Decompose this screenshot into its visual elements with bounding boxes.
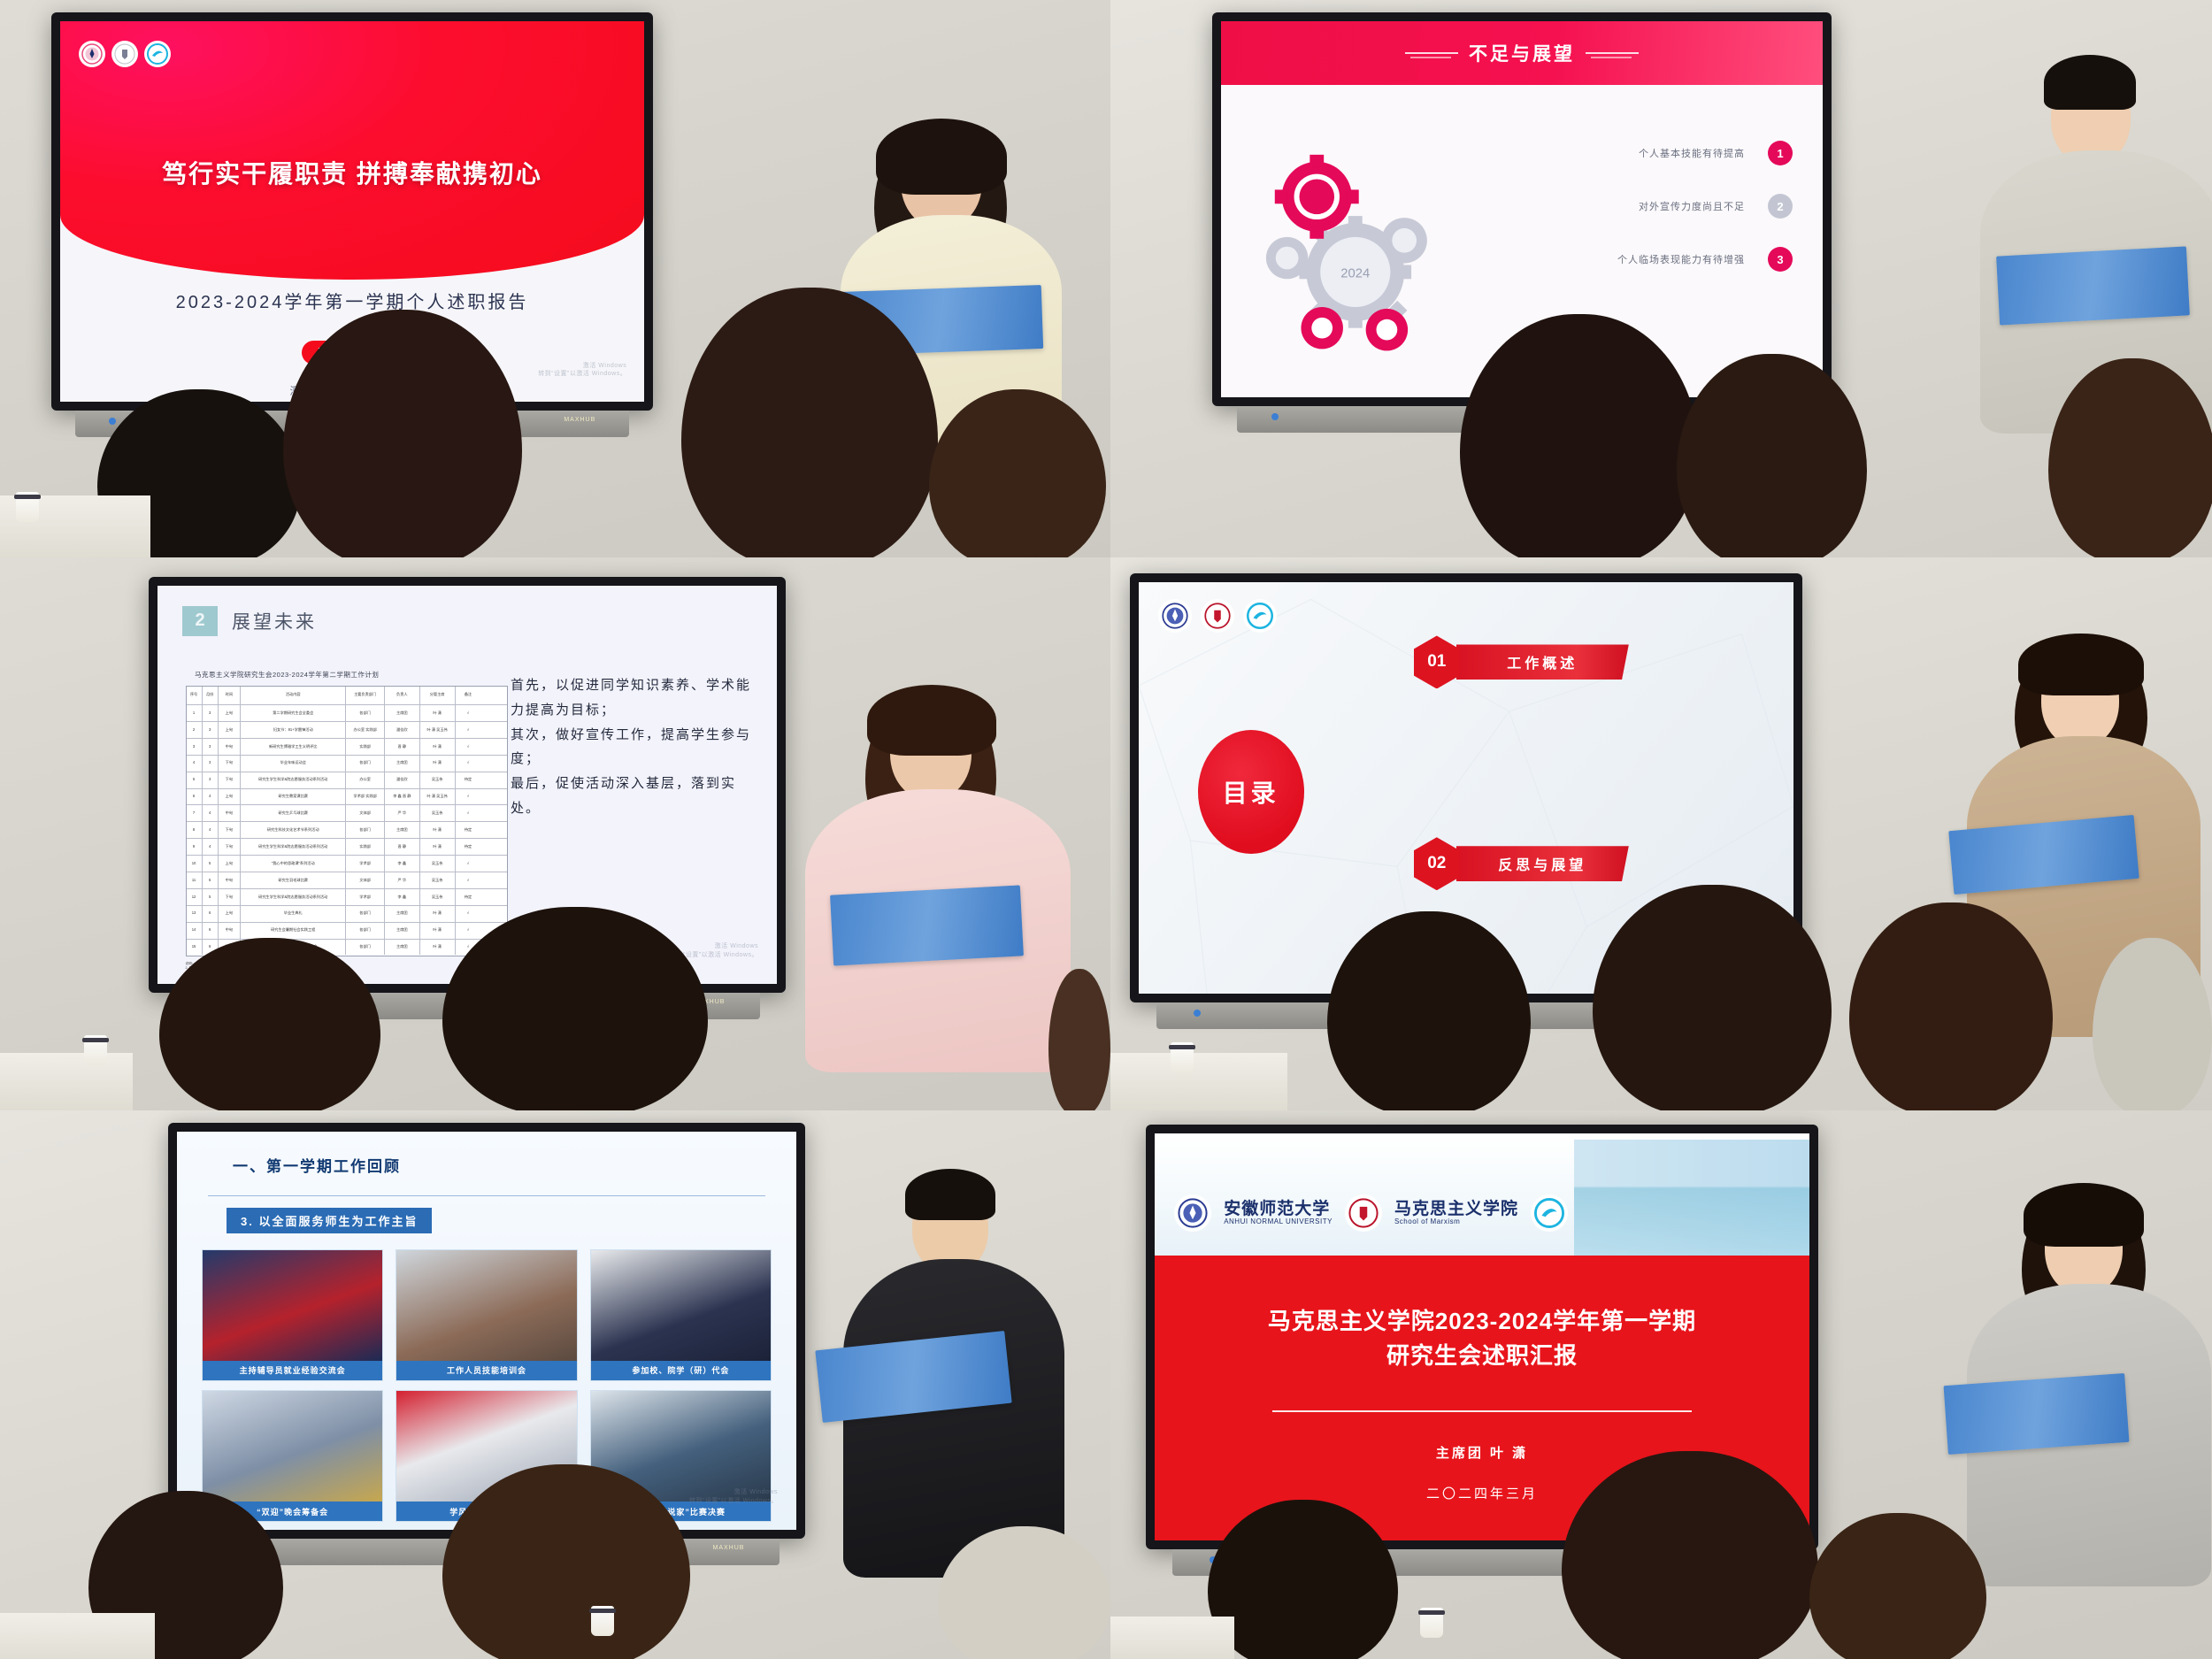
table-row: 33中旬新研究生博雅学工生义明评比实践部晋 静叶 潇√ xyxy=(187,739,507,756)
table-cell: 毕业年味运动会 xyxy=(241,756,346,772)
school-name-en: School of Marxism xyxy=(1394,1218,1518,1225)
section-number-chip: 2 xyxy=(182,606,218,636)
table-cell: √ xyxy=(456,705,481,721)
table-cell: 主席团 xyxy=(385,822,420,838)
table-cell: 下旬 xyxy=(219,839,241,855)
table-cell: 待定 xyxy=(456,889,481,905)
table-cell: 3 xyxy=(203,722,219,738)
item-number-badge: 3 xyxy=(1768,247,1793,272)
slide-subheading: 3. 以全面服务师生为工作主旨 xyxy=(227,1208,432,1233)
table-cell: 晋 静 xyxy=(385,839,420,855)
table-cell: 办公室 实践部 xyxy=(346,722,384,738)
cover-title-line1: 马克思主义学院2023-2024学年第一学期 xyxy=(1268,1308,1696,1334)
campus-building-illustration xyxy=(1574,1140,1809,1256)
table-cell: 4 xyxy=(203,822,219,838)
table-cell: 实践部 xyxy=(346,839,384,855)
audience-person xyxy=(283,310,522,557)
table-cell: 主席团 xyxy=(385,756,420,772)
gear-graphic: 2024 xyxy=(1257,127,1450,360)
table-cell: 严 华 xyxy=(385,805,420,821)
audience-person xyxy=(929,389,1106,557)
audience-person xyxy=(1327,911,1531,1110)
slide-heading: 不足与展望 xyxy=(1469,40,1575,66)
table-cell: 4 xyxy=(187,756,203,772)
table-cell: 3 xyxy=(203,705,219,721)
table-cell: 主席团 xyxy=(385,923,420,939)
table-cell: 文体部 xyxy=(346,872,384,888)
slide-logos xyxy=(79,41,171,67)
toc-number-02: 02 xyxy=(1414,837,1460,890)
table-cell: √ xyxy=(456,722,481,738)
table-header-cell: 活动内容 xyxy=(241,687,346,705)
item-text: 个人临场表现能力有待增强 xyxy=(1617,252,1745,266)
list-item: 个人基本技能有待提高 1 xyxy=(1479,127,1793,180)
table-cell: 毕业生典礼 xyxy=(241,906,346,922)
blue-folder xyxy=(1944,1373,2130,1455)
table-cell: 叶 潇 xyxy=(420,839,456,855)
table-cell: 各部门 xyxy=(346,923,384,939)
table-cell: 实践部 xyxy=(346,739,384,755)
table-cell: 2 xyxy=(187,722,203,738)
table-cell: 6 xyxy=(203,923,219,939)
toc-number-01: 01 xyxy=(1414,635,1460,688)
table-cell: 吴玉伟 xyxy=(420,872,456,888)
table-cell: 研究生学生科学&院志愿服务活动系列活动 xyxy=(241,839,346,855)
table-cell: 10 xyxy=(187,856,203,872)
table-header-cell: 月份 xyxy=(203,687,219,705)
table-cell: √ xyxy=(456,805,481,821)
paper-cup xyxy=(84,1035,107,1065)
slide-heading: 一、第一学期工作回顾 xyxy=(233,1154,401,1176)
paper-cup xyxy=(1420,1608,1443,1638)
graduate-union-emblem-icon xyxy=(1243,599,1277,633)
anhui-normal-university-emblem-icon xyxy=(1158,599,1192,633)
table-cell: 中旬 xyxy=(219,805,241,821)
paper-cup xyxy=(591,1606,614,1636)
audience-person xyxy=(1562,1451,1818,1659)
table-row: 13上旬第二学期研究生会全委会各部门主席团叶 潇√ xyxy=(187,705,507,722)
graduate-union-emblem-icon xyxy=(1531,1194,1568,1232)
table-cell: 李 鑫 xyxy=(385,889,420,905)
table-row: 125下旬研究生学生科学&院志愿服务活动系列活动学术部李 鑫吴玉伟待定 xyxy=(187,889,507,906)
item-text: 对外宣传力度尚且不足 xyxy=(1639,199,1745,213)
table-cell: 研究生学生科学&院志愿服务活动系列活动 xyxy=(241,772,346,788)
audience-person xyxy=(681,288,938,557)
photo-card: 工作人员技能培训会 xyxy=(396,1249,577,1381)
table-cell: “我心中的思政课”系列活动 xyxy=(241,856,346,872)
table-cell: √ xyxy=(456,856,481,872)
table-cell: 9 xyxy=(187,839,203,855)
table-cell: 上旬 xyxy=(219,722,241,738)
table-cell: 学术部 xyxy=(346,856,384,872)
table-cell: 待定 xyxy=(456,839,481,855)
windows-watermark: 激活 Windows转到“设置”以激活 Windows。 xyxy=(689,1488,778,1506)
table-cell: 主席团 xyxy=(385,940,420,956)
table-cell: 妇女节：81+学雷锋活动 xyxy=(241,722,346,738)
audience-person xyxy=(1809,1513,1986,1659)
left-dash-decoration xyxy=(1405,52,1458,54)
school-of-marxism-emblem-icon xyxy=(1201,599,1234,633)
table-cell: 叶 潇 xyxy=(420,705,456,721)
table-row: 23上旬妇女节：81+学雷锋活动办公室 实践部潘佳欣叶 潇 吴玉伟√ xyxy=(187,722,507,739)
table-cell: 严 华 xyxy=(385,872,420,888)
table-cell: 待定 xyxy=(456,772,481,788)
table-cell: 4 xyxy=(203,789,219,805)
table-cell: 6 xyxy=(187,789,203,805)
cover-divider xyxy=(1272,1410,1692,1412)
presenter-person xyxy=(796,681,1079,1071)
list-item: 个人临场表现能力有待增强 3 xyxy=(1479,233,1793,286)
panel-middle-left: 2 展望未来 马克思主义学院研究生会2023-2024学年第二学期工作计划 序号… xyxy=(0,557,1110,1110)
table-cell: 吴玉伟 xyxy=(420,856,456,872)
audience-person xyxy=(1048,969,1110,1110)
table-row: 53下旬研究生学生科学&院志愿服务活动系列活动办公室潘佳欣吴玉伟待定 xyxy=(187,772,507,789)
outlook-item-list: 个人基本技能有待提高 1 对外宣传力度尚且不足 2 个人临场表现能力有待增强 3 xyxy=(1479,127,1793,286)
school-name: 马克思主义学院 School of Marxism xyxy=(1394,1201,1518,1225)
table-cell: 5 xyxy=(203,889,219,905)
table-cell: 3 xyxy=(203,772,219,788)
photo-card: 主持辅导员就业经验交流会 xyxy=(202,1249,383,1381)
audience-person xyxy=(2048,358,2212,557)
slide-heading-group: 2 展望未来 xyxy=(182,606,317,636)
table-cell: 吴玉伟 xyxy=(420,805,456,821)
table-cell: 学术部 实践部 xyxy=(346,789,384,805)
university-name-en: ANHUI NORMAL UNIVERSITY xyxy=(1224,1218,1333,1225)
table-cell: 吴玉伟 xyxy=(420,889,456,905)
panel-top-left: 笃行实干履职责 拼搏奉献携初心 2023-2024学年第一学期个人述职报告 汇报… xyxy=(0,0,1110,557)
front-desk xyxy=(0,1613,155,1659)
table-cell: 研究生学生科学&院志愿服务活动系列活动 xyxy=(241,889,346,905)
table-cell: 下旬 xyxy=(219,772,241,788)
table-cell: 研究生科技文化艺术节系列活动 xyxy=(241,822,346,838)
table-cell: 叶 潇 xyxy=(420,822,456,838)
table-cell: √ xyxy=(456,739,481,755)
anhui-normal-university-emblem-icon xyxy=(79,41,105,67)
table-cell: 晋 静 xyxy=(385,739,420,755)
cover-title-line2: 研究生会述职汇报 xyxy=(1386,1342,1578,1369)
paper-cup xyxy=(16,492,39,522)
table-row: 84下旬研究生科技文化艺术节系列活动各部门主席团叶 潇待定 xyxy=(187,822,507,839)
photo-caption: 工作人员技能培训会 xyxy=(396,1361,576,1380)
blue-folder xyxy=(830,885,1024,965)
graduate-union-emblem-icon xyxy=(144,41,171,67)
table-cell: √ xyxy=(456,756,481,772)
gear-year-label: 2024 xyxy=(1340,266,1370,280)
table-cell: 6 xyxy=(203,906,219,922)
cover-logos: 安徽师范大学 ANHUI NORMAL UNIVERSITY 马克思主义学院 S… xyxy=(1174,1194,1568,1232)
table-cell: 3 xyxy=(203,756,219,772)
heading-rule xyxy=(208,1195,765,1196)
table-header-cell: 备注 xyxy=(456,687,481,705)
table-cell: 上旬 xyxy=(219,906,241,922)
toc-item-01[interactable]: 01 工作概述 xyxy=(1414,635,1629,688)
table-header-cell: 时间 xyxy=(219,687,241,705)
table-cell: 下旬 xyxy=(219,756,241,772)
table-cell: 3 xyxy=(203,739,219,755)
table-cell: 5 xyxy=(203,872,219,888)
table-cell: 7 xyxy=(187,805,203,821)
table-cell: 中旬 xyxy=(219,923,241,939)
item-number-badge: 1 xyxy=(1768,141,1793,165)
audience-person xyxy=(1593,885,1832,1110)
audience-person xyxy=(442,907,708,1110)
slide-logos xyxy=(1158,599,1277,633)
table-header-cell: 分管主席 xyxy=(420,687,456,705)
toc-label-02: 反思与展望 xyxy=(1456,846,1629,881)
photo-collage: 笃行实干履职责 拼搏奉献携初心 2023-2024学年第一学期个人述职报告 汇报… xyxy=(0,0,2212,1659)
panel-bottom-right: 安徽师范大学 ANHUI NORMAL UNIVERSITY 马克思主义学院 S… xyxy=(1110,1110,2212,1659)
table-cell: 下旬 xyxy=(219,822,241,838)
university-name-cn: 安徽师范大学 xyxy=(1224,1201,1333,1218)
right-dash-decoration xyxy=(1586,52,1639,54)
table-cell: 中旬 xyxy=(219,739,241,755)
table-cell: 研究生会暑期社会实践工程 xyxy=(241,923,346,939)
table-cell: 11 xyxy=(187,872,203,888)
table-cell: 李 鑫 xyxy=(385,856,420,872)
audience-person xyxy=(938,1526,1110,1659)
table-cell: 待定 xyxy=(456,822,481,838)
panel-middle-right: 目录 01 工作概述 02 反思与展望 激活 Windows转到“设置”以激活 … xyxy=(1110,557,2212,1110)
table-cell: 4 xyxy=(203,805,219,821)
university-name: 安徽师范大学 ANHUI NORMAL UNIVERSITY xyxy=(1224,1201,1333,1225)
photo-caption: 主持辅导员就业经验交流会 xyxy=(203,1361,382,1380)
toc-item-02[interactable]: 02 反思与展望 xyxy=(1414,837,1629,890)
paper-cup xyxy=(1171,1042,1194,1072)
anhui-normal-university-emblem-icon xyxy=(1174,1194,1211,1232)
toc-label-01: 工作概述 xyxy=(1456,644,1629,680)
table-row: 64上旬研究生教案课比赛学术部 实践部李 鑫 晋 静叶 潇 吴玉伟√ xyxy=(187,789,507,806)
table-cell: 上旬 xyxy=(219,856,241,872)
list-item: 对外宣传力度尚且不足 2 xyxy=(1479,180,1793,233)
photo-card: 参加校、院学（研）代会 xyxy=(590,1249,772,1381)
table-cell: 中旬 xyxy=(219,872,241,888)
front-desk xyxy=(0,1053,133,1110)
table-cell: 13 xyxy=(187,906,203,922)
slide-heading: 展望未来 xyxy=(232,608,317,634)
audience-person xyxy=(442,1464,690,1659)
table-cell: 叶 潇 吴玉伟 xyxy=(420,722,456,738)
table-row: 74中旬研究生乒乓球比赛文体部严 华吴玉伟√ xyxy=(187,805,507,822)
table-cell: 各部门 xyxy=(346,822,384,838)
toc-circle-label: 目录 xyxy=(1198,730,1304,854)
table-cell: 学术部 xyxy=(346,889,384,905)
slide-title-text: 笃行实干履职责 拼搏奉献携初心 xyxy=(60,155,644,190)
presenter-person xyxy=(827,1164,1093,1579)
table-cell: 研究生教案课比赛 xyxy=(241,789,346,805)
table-cell: 3 xyxy=(187,739,203,755)
table-row: 115中旬研究生羽毛球比赛文体部严 华吴玉伟√ xyxy=(187,872,507,889)
panel-bottom-left: 一、第一学期工作回顾 3. 以全面服务师生为工作主旨 主持辅导员就业经验交流会 … xyxy=(0,1110,1110,1659)
table-row: 43下旬毕业年味运动会各部门主席团叶 潇√ xyxy=(187,756,507,772)
panel-top-right: 不足与展望 xyxy=(1110,0,2212,557)
plan-table-title: 马克思主义学院研究生会2023-2024学年第二学期工作计划 xyxy=(195,670,379,680)
table-cell: 第二学期研究生会全委会 xyxy=(241,705,346,721)
table-cell: 5 xyxy=(187,772,203,788)
table-cell: 叶 潇 xyxy=(420,756,456,772)
table-cell: 8 xyxy=(187,822,203,838)
table-cell: 研究生羽毛球比赛 xyxy=(241,872,346,888)
presenter-person xyxy=(1960,1179,2212,1586)
table-cell: 12 xyxy=(187,889,203,905)
table-cell: 潘佳欣 xyxy=(385,772,420,788)
table-row: 94下旬研究生学生科学&院志愿服务活动系列活动实践部晋 静叶 潇待定 xyxy=(187,839,507,856)
table-header-row: 序号月份时间活动内容主要负责部门负责人分管主席备注 xyxy=(187,687,507,706)
table-cell: 潘佳欣 xyxy=(385,722,420,738)
school-of-marxism-emblem-icon xyxy=(111,41,138,67)
front-desk xyxy=(1110,1053,1287,1110)
table-cell: 李 鑫 晋 静 xyxy=(385,789,420,805)
cover-title: 马克思主义学院2023-2024学年第一学期 研究生会述职汇报 xyxy=(1194,1304,1770,1373)
table-header-cell: 负责人 xyxy=(385,687,420,705)
audience-person xyxy=(1849,902,2053,1110)
front-desk xyxy=(1110,1617,1234,1659)
audience-person xyxy=(1460,314,1699,557)
table-cell: √ xyxy=(456,872,481,888)
windows-watermark: 激活 Windows转到“设置”以激活 Windows。 xyxy=(538,362,626,380)
school-of-marxism-emblem-icon xyxy=(1345,1194,1382,1232)
table-cell: 新研究生博雅学工生义明评比 xyxy=(241,739,346,755)
table-cell: √ xyxy=(456,789,481,805)
table-cell: 下旬 xyxy=(219,889,241,905)
table-cell: 5 xyxy=(203,856,219,872)
table-row: 105上旬“我心中的思政课”系列活动学术部李 鑫吴玉伟√ xyxy=(187,856,507,872)
table-cell: 各部门 xyxy=(346,906,384,922)
table-cell: 上旬 xyxy=(219,705,241,721)
table-cell: 文体部 xyxy=(346,805,384,821)
table-cell: 主席团 xyxy=(385,906,420,922)
blue-folder xyxy=(1996,246,2190,325)
table-cell: 4 xyxy=(203,839,219,855)
item-text: 个人基本技能有待提高 xyxy=(1639,146,1745,160)
table-cell: 叶 潇 xyxy=(420,739,456,755)
audience-person xyxy=(1677,354,1867,557)
photo-caption: 参加校、院学（研）代会 xyxy=(591,1361,771,1380)
table-cell: 各部门 xyxy=(346,705,384,721)
audience-person xyxy=(2093,938,2212,1110)
school-name-cn: 马克思主义学院 xyxy=(1394,1201,1518,1218)
table-cell: 吴玉伟 xyxy=(420,772,456,788)
handwriting-text: 首先，以促进同学知识素养、学术能力提高为目标；其次，做好宣传工作，提高学生参与度… xyxy=(511,673,758,821)
audience-person xyxy=(1208,1500,1398,1659)
table-header-cell: 序号 xyxy=(187,687,203,705)
table-cell: 办公室 xyxy=(346,772,384,788)
table-cell: 研究生乒乓球比赛 xyxy=(241,805,346,821)
audience-person xyxy=(159,938,380,1110)
table-cell: 各部门 xyxy=(346,756,384,772)
table-header-cell: 主要负责部门 xyxy=(346,687,384,705)
table-cell: 1 xyxy=(187,705,203,721)
table-cell: 上旬 xyxy=(219,789,241,805)
table-cell: 叶 潇 吴玉伟 xyxy=(420,789,456,805)
item-number-badge: 2 xyxy=(1768,194,1793,219)
table-cell: 14 xyxy=(187,923,203,939)
table-cell: 主席团 xyxy=(385,705,420,721)
